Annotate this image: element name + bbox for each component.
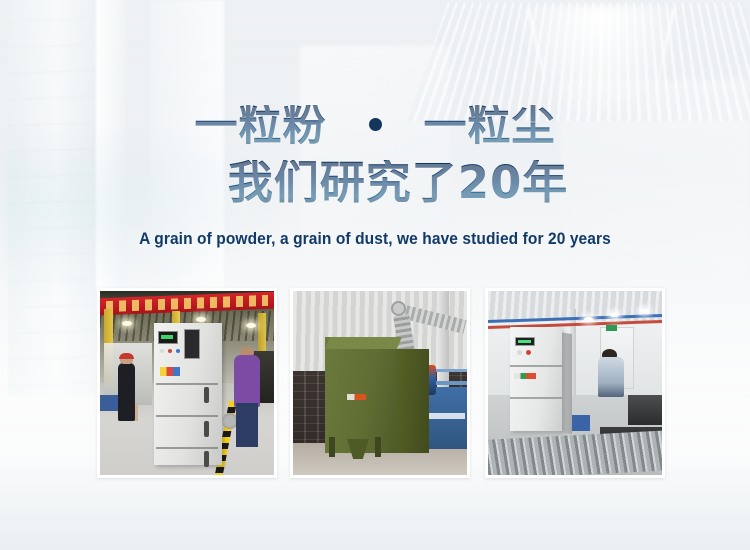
photo-card-2[interactable] <box>290 288 470 478</box>
headline-subtitle: A grain of powder, a grain of dust, we h… <box>23 230 728 249</box>
headline-text-powder: 一粒粉 <box>195 101 327 151</box>
photo-gallery <box>0 288 750 482</box>
promotional-banner: 一粒粉 一粒尘 我们研究了20年 A grain of powder, a gr… <box>0 0 750 550</box>
headline-line-1: 一粒粉 一粒尘 <box>0 105 750 148</box>
worker-figure <box>118 363 135 421</box>
bullet-separator-icon <box>369 118 382 131</box>
headline-block: 一粒粉 一粒尘 我们研究了20年 <box>0 105 750 205</box>
exit-sign-icon <box>606 325 617 331</box>
photo-image-3 <box>488 291 662 475</box>
photo-image-2 <box>293 291 467 475</box>
headline-line-2: 我们研究了20年 <box>0 160 750 205</box>
worker-figure <box>598 357 624 397</box>
photo-card-1[interactable] <box>97 288 277 478</box>
photo-card-3[interactable] <box>485 288 665 478</box>
photo-image-1 <box>100 291 274 475</box>
headline-text-dust: 一粒尘 <box>423 101 555 151</box>
worker-figure <box>234 355 260 407</box>
